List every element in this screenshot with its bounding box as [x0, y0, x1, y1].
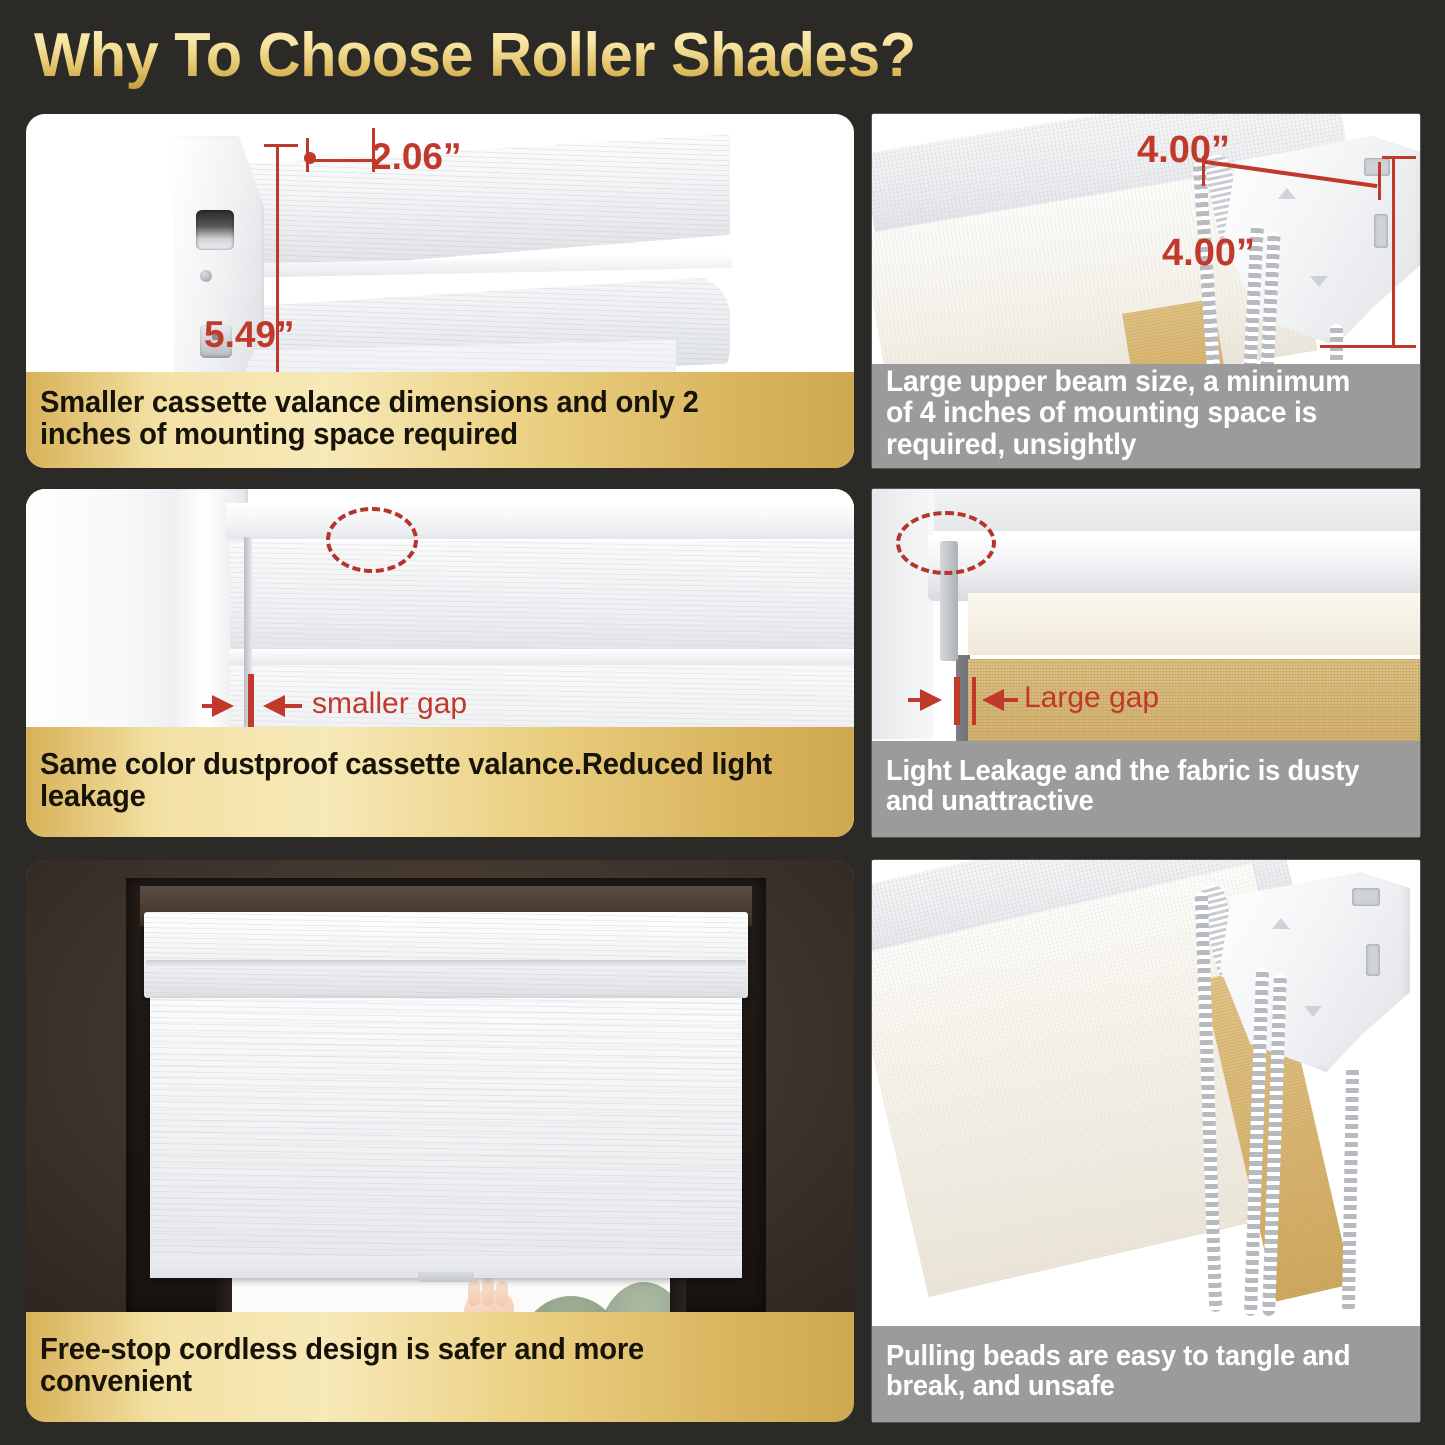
- panel-1-caption-text: Smaller cassette valance dimensions and …: [40, 386, 792, 450]
- bracket-slot-icon: [1364, 158, 1390, 176]
- panel-pro-cassette-size: 2.06” 5.49” Smaller cassette valance dim…: [26, 114, 854, 468]
- bead-chain-tail: [1342, 1066, 1359, 1312]
- dimension-line-horizontal: [308, 159, 376, 162]
- panel-pro-small-gap: smaller gap Same color dustproof cassett…: [26, 489, 854, 837]
- bracket-slot-icon: [1366, 944, 1380, 976]
- arrow-tail: [1002, 698, 1018, 702]
- dimension-tick-top: [264, 144, 298, 147]
- roller-shade-fabric: [150, 998, 742, 1276]
- panel-con-large-beam: 4.00” 4.00” Large upper beam size, a min…: [872, 114, 1420, 468]
- dimension-tick-top: [1382, 156, 1416, 159]
- finger: [468, 1280, 480, 1306]
- panel-4-caption: Light Leakage and the fabric is dusty an…: [872, 741, 1420, 837]
- panel-con-large-gap: Large gap Light Leakage and the fabric i…: [872, 489, 1420, 837]
- panel-3-caption: Same color dustproof cassette valance.Re…: [26, 727, 854, 837]
- bracket-pin: [200, 270, 212, 282]
- finger: [482, 1278, 494, 1306]
- highlight-circle-icon: [326, 507, 418, 573]
- panel-con-bead-chain: Pulling beads are easy to tangle and bre…: [872, 860, 1420, 1422]
- title-bar: Why To Choose Roller Shades?: [0, 0, 1445, 104]
- cassette-valance-head: [144, 912, 748, 998]
- up-arrow-icon: [1272, 918, 1290, 929]
- gap-callout-label: smaller gap: [312, 687, 467, 721]
- arrow-left-icon: [982, 689, 1004, 711]
- panel-1-caption: Smaller cassette valance dimensions and …: [26, 372, 854, 468]
- shade-pull-tab: [418, 1272, 474, 1282]
- arrow-tail: [202, 704, 220, 708]
- panel-4-caption-text: Light Leakage and the fabric is dusty an…: [886, 756, 1375, 816]
- panel-5-caption: Free-stop cordless design is safer and m…: [26, 1312, 854, 1422]
- valance-groove: [146, 960, 746, 968]
- bracket-slot-icon: [1374, 214, 1388, 248]
- dimension-label-height: 4.00”: [1162, 232, 1255, 275]
- panel-6-caption-text: Pulling beads are easy to tangle and bre…: [886, 1341, 1375, 1401]
- dimension-tick-bottom: [1320, 345, 1416, 348]
- dimension-tick-right: [1378, 162, 1381, 200]
- dimension-line-vertical: [1392, 156, 1395, 348]
- dimension-label-width: 2.06”: [371, 136, 462, 178]
- arrow-tail: [284, 704, 302, 708]
- cassette-valance-head: [226, 503, 854, 539]
- panel-pro-cordless: Free-stop cordless design is safer and m…: [26, 860, 854, 1422]
- up-arrow-icon: [1278, 188, 1296, 199]
- bracket-slot-icon: [196, 210, 234, 250]
- cream-valance: [968, 593, 1420, 655]
- panel-6-caption: Pulling beads are easy to tangle and bre…: [872, 1326, 1420, 1422]
- dimension-label-width: 4.00”: [1137, 129, 1230, 172]
- gap-callout-label: Large gap: [1024, 681, 1159, 715]
- gap-marker: [954, 677, 960, 725]
- panel-2-caption-text: Large upper beam size, a minimum of 4 in…: [886, 366, 1375, 460]
- panel-3-caption-text: Same color dustproof cassette valance.Re…: [40, 748, 792, 812]
- arrow-left-icon: [263, 695, 285, 717]
- page-title: Why To Choose Roller Shades?: [34, 20, 916, 91]
- down-arrow-icon: [1304, 1006, 1322, 1017]
- shade-fabric-upper: [230, 541, 854, 653]
- dimension-label-height: 5.49”: [204, 314, 295, 356]
- arrow-tail: [908, 698, 924, 702]
- bracket-slot-icon: [1352, 888, 1380, 906]
- upper-beam: [928, 535, 1420, 601]
- finger: [496, 1281, 508, 1306]
- dimension-anchor-dot: [304, 152, 316, 164]
- panel-2-caption: Large upper beam size, a minimum of 4 in…: [872, 364, 1420, 468]
- gap-marker: [972, 677, 976, 725]
- panel-5-caption-text: Free-stop cordless design is safer and m…: [40, 1333, 792, 1397]
- down-arrow-icon: [1310, 276, 1328, 287]
- highlight-circle-icon: [896, 511, 996, 575]
